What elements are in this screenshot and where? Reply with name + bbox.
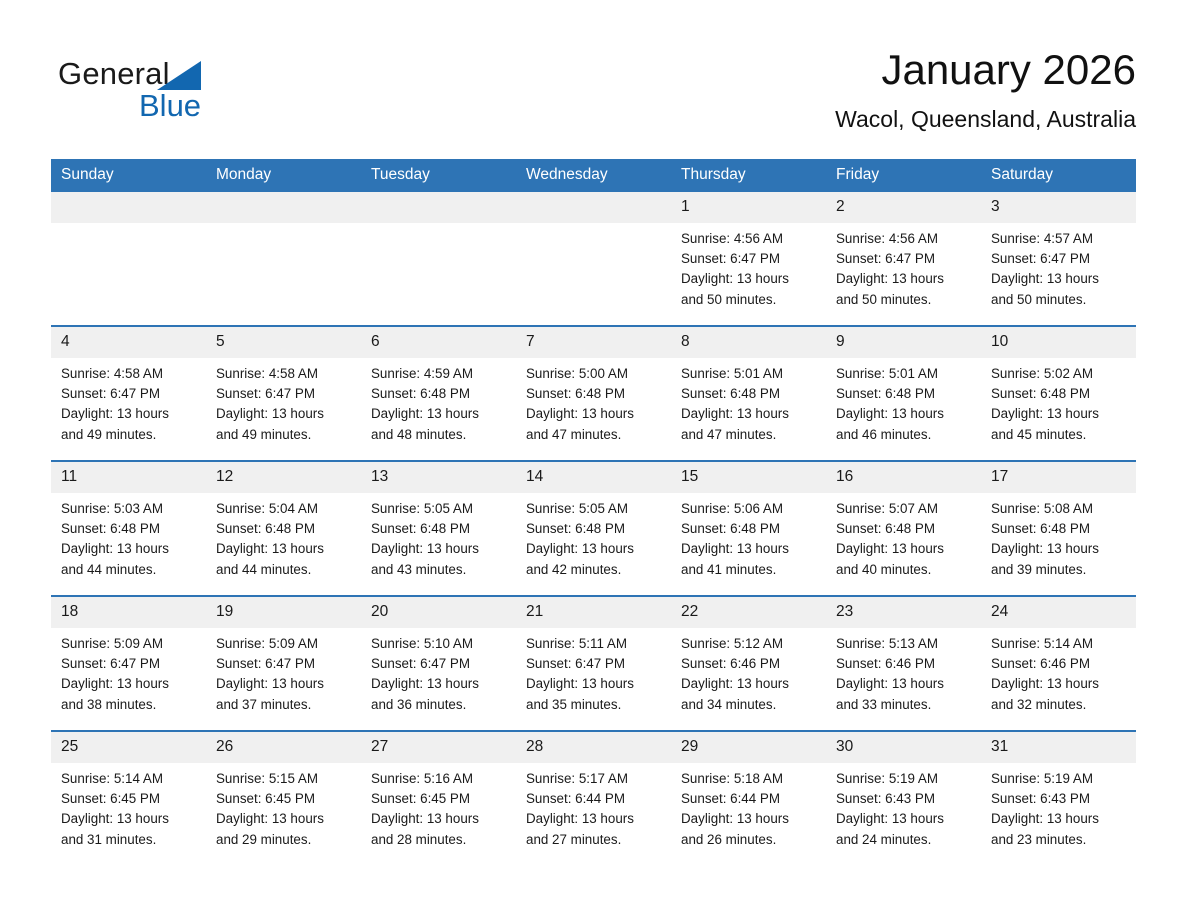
daylight-text-line2: and 44 minutes. (61, 560, 198, 580)
daylight-text-line1: Daylight: 13 hours (681, 539, 818, 559)
daylight-text-line2: and 34 minutes. (681, 695, 818, 715)
daylight-text-line1: Daylight: 13 hours (991, 674, 1128, 694)
brand-triangle-icon (157, 61, 201, 90)
sunrise-text: Sunrise: 4:59 AM (371, 364, 508, 384)
calendar-day-cell[interactable]: 30Sunrise: 5:19 AMSunset: 6:43 PMDayligh… (826, 731, 981, 865)
day-number: 24 (981, 597, 1136, 628)
calendar-day-cell[interactable]: 1Sunrise: 4:56 AMSunset: 6:47 PMDaylight… (671, 192, 826, 326)
day-details: Sunrise: 5:17 AMSunset: 6:44 PMDaylight:… (516, 763, 671, 850)
calendar-day-cell[interactable]: 17Sunrise: 5:08 AMSunset: 6:48 PMDayligh… (981, 461, 1136, 596)
daylight-text-line2: and 50 minutes. (681, 290, 818, 310)
sunset-text: Sunset: 6:48 PM (681, 519, 818, 539)
sunrise-text: Sunrise: 5:04 AM (216, 499, 353, 519)
day-number: 29 (671, 732, 826, 763)
daylight-text-line2: and 35 minutes. (526, 695, 663, 715)
sunrise-text: Sunrise: 5:16 AM (371, 769, 508, 789)
weekday-header-saturday: Saturday (981, 159, 1136, 192)
calendar-day-cell[interactable]: 31Sunrise: 5:19 AMSunset: 6:43 PMDayligh… (981, 731, 1136, 865)
daylight-text-line1: Daylight: 13 hours (836, 269, 973, 289)
sunset-text: Sunset: 6:45 PM (216, 789, 353, 809)
calendar-day-cell[interactable]: 11Sunrise: 5:03 AMSunset: 6:48 PMDayligh… (51, 461, 206, 596)
daylight-text-line1: Daylight: 13 hours (371, 809, 508, 829)
sunrise-text: Sunrise: 4:57 AM (991, 229, 1128, 249)
sunset-text: Sunset: 6:46 PM (991, 654, 1128, 674)
day-number: 25 (51, 732, 206, 763)
sunset-text: Sunset: 6:48 PM (836, 384, 973, 404)
day-number (206, 192, 361, 223)
page-title: January 2026 (835, 44, 1136, 96)
daylight-text-line1: Daylight: 13 hours (836, 674, 973, 694)
sunset-text: Sunset: 6:45 PM (371, 789, 508, 809)
daylight-text-line1: Daylight: 13 hours (681, 404, 818, 424)
sunrise-text: Sunrise: 5:08 AM (991, 499, 1128, 519)
calendar-week-row: 18Sunrise: 5:09 AMSunset: 6:47 PMDayligh… (51, 596, 1136, 731)
sunset-text: Sunset: 6:48 PM (61, 519, 198, 539)
calendar-header-row: Sunday Monday Tuesday Wednesday Thursday… (51, 159, 1136, 192)
day-details: Sunrise: 5:00 AMSunset: 6:48 PMDaylight:… (516, 358, 671, 445)
calendar-day-cell[interactable]: 4Sunrise: 4:58 AMSunset: 6:47 PMDaylight… (51, 326, 206, 461)
daylight-text-line2: and 23 minutes. (991, 830, 1128, 850)
weekday-header-monday: Monday (206, 159, 361, 192)
day-number: 9 (826, 327, 981, 358)
day-details: Sunrise: 5:01 AMSunset: 6:48 PMDaylight:… (671, 358, 826, 445)
sunset-text: Sunset: 6:46 PM (836, 654, 973, 674)
calendar-week-row: 25Sunrise: 5:14 AMSunset: 6:45 PMDayligh… (51, 731, 1136, 865)
daylight-text-line1: Daylight: 13 hours (216, 674, 353, 694)
daylight-text-line2: and 45 minutes. (991, 425, 1128, 445)
sunset-text: Sunset: 6:47 PM (216, 384, 353, 404)
calendar-day-cell[interactable]: 14Sunrise: 5:05 AMSunset: 6:48 PMDayligh… (516, 461, 671, 596)
brand-name-blue: Blue (139, 88, 201, 124)
day-number: 2 (826, 192, 981, 223)
sunrise-text: Sunrise: 5:00 AM (526, 364, 663, 384)
day-details: Sunrise: 5:02 AMSunset: 6:48 PMDaylight:… (981, 358, 1136, 445)
sunset-text: Sunset: 6:48 PM (991, 384, 1128, 404)
day-details: Sunrise: 5:12 AMSunset: 6:46 PMDaylight:… (671, 628, 826, 715)
day-details: Sunrise: 5:19 AMSunset: 6:43 PMDaylight:… (981, 763, 1136, 850)
daylight-text-line2: and 24 minutes. (836, 830, 973, 850)
day-details: Sunrise: 5:14 AMSunset: 6:46 PMDaylight:… (981, 628, 1136, 715)
day-number: 1 (671, 192, 826, 223)
sunrise-text: Sunrise: 5:05 AM (371, 499, 508, 519)
sunset-text: Sunset: 6:48 PM (371, 519, 508, 539)
sunrise-text: Sunrise: 5:09 AM (61, 634, 198, 654)
sunset-text: Sunset: 6:47 PM (526, 654, 663, 674)
day-number: 30 (826, 732, 981, 763)
daylight-text-line2: and 37 minutes. (216, 695, 353, 715)
day-details: Sunrise: 5:19 AMSunset: 6:43 PMDaylight:… (826, 763, 981, 850)
day-number (51, 192, 206, 223)
daylight-text-line2: and 44 minutes. (216, 560, 353, 580)
day-details: Sunrise: 5:18 AMSunset: 6:44 PMDaylight:… (671, 763, 826, 850)
daylight-text-line2: and 28 minutes. (371, 830, 508, 850)
day-number: 31 (981, 732, 1136, 763)
daylight-text-line2: and 32 minutes. (991, 695, 1128, 715)
day-number: 10 (981, 327, 1136, 358)
day-details: Sunrise: 5:07 AMSunset: 6:48 PMDaylight:… (826, 493, 981, 580)
calendar-day-cell[interactable]: 6Sunrise: 4:59 AMSunset: 6:48 PMDaylight… (361, 326, 516, 461)
sunset-text: Sunset: 6:48 PM (836, 519, 973, 539)
sunset-text: Sunset: 6:43 PM (836, 789, 973, 809)
day-number (516, 192, 671, 223)
day-details: Sunrise: 5:10 AMSunset: 6:47 PMDaylight:… (361, 628, 516, 715)
daylight-text-line1: Daylight: 13 hours (526, 809, 663, 829)
daylight-text-line2: and 26 minutes. (681, 830, 818, 850)
daylight-text-line2: and 48 minutes. (371, 425, 508, 445)
day-details: Sunrise: 5:04 AMSunset: 6:48 PMDaylight:… (206, 493, 361, 580)
calendar-day-cell[interactable]: 21Sunrise: 5:11 AMSunset: 6:47 PMDayligh… (516, 596, 671, 731)
daylight-text-line1: Daylight: 13 hours (526, 674, 663, 694)
sunrise-text: Sunrise: 5:19 AM (991, 769, 1128, 789)
weekday-header-friday: Friday (826, 159, 981, 192)
day-number: 6 (361, 327, 516, 358)
sunset-text: Sunset: 6:47 PM (61, 654, 198, 674)
daylight-text-line1: Daylight: 13 hours (681, 269, 818, 289)
sunset-text: Sunset: 6:48 PM (526, 384, 663, 404)
sunrise-text: Sunrise: 5:14 AM (991, 634, 1128, 654)
daylight-text-line1: Daylight: 13 hours (991, 539, 1128, 559)
calendar-day-cell[interactable]: 20Sunrise: 5:10 AMSunset: 6:47 PMDayligh… (361, 596, 516, 731)
day-details: Sunrise: 5:05 AMSunset: 6:48 PMDaylight:… (516, 493, 671, 580)
daylight-text-line2: and 41 minutes. (681, 560, 818, 580)
calendar-day-cell[interactable]: 8Sunrise: 5:01 AMSunset: 6:48 PMDaylight… (671, 326, 826, 461)
day-details: Sunrise: 5:08 AMSunset: 6:48 PMDaylight:… (981, 493, 1136, 580)
day-number: 14 (516, 462, 671, 493)
sunset-text: Sunset: 6:48 PM (526, 519, 663, 539)
sunrise-text: Sunrise: 5:19 AM (836, 769, 973, 789)
day-number: 21 (516, 597, 671, 628)
day-details: Sunrise: 5:15 AMSunset: 6:45 PMDaylight:… (206, 763, 361, 850)
sunrise-text: Sunrise: 5:15 AM (216, 769, 353, 789)
daylight-text-line2: and 50 minutes. (991, 290, 1128, 310)
sunset-text: Sunset: 6:47 PM (61, 384, 198, 404)
daylight-text-line1: Daylight: 13 hours (371, 674, 508, 694)
daylight-text-line2: and 50 minutes. (836, 290, 973, 310)
daylight-text-line2: and 36 minutes. (371, 695, 508, 715)
calendar-day-cell[interactable]: 15Sunrise: 5:06 AMSunset: 6:48 PMDayligh… (671, 461, 826, 596)
calendar-day-cell[interactable]: 18Sunrise: 5:09 AMSunset: 6:47 PMDayligh… (51, 596, 206, 731)
sunset-text: Sunset: 6:47 PM (216, 654, 353, 674)
day-number: 13 (361, 462, 516, 493)
calendar-day-cell[interactable]: 13Sunrise: 5:05 AMSunset: 6:48 PMDayligh… (361, 461, 516, 596)
daylight-text-line1: Daylight: 13 hours (836, 539, 973, 559)
day-details: Sunrise: 4:58 AMSunset: 6:47 PMDaylight:… (51, 358, 206, 445)
daylight-text-line2: and 49 minutes. (216, 425, 353, 445)
page-header: General Blue January 2026 Wacol, Queensl… (51, 44, 1136, 148)
calendar-day-cell[interactable]: 7Sunrise: 5:00 AMSunset: 6:48 PMDaylight… (516, 326, 671, 461)
daylight-text-line2: and 47 minutes. (526, 425, 663, 445)
calendar-day-cell[interactable]: 26Sunrise: 5:15 AMSunset: 6:45 PMDayligh… (206, 731, 361, 865)
day-details: Sunrise: 4:56 AMSunset: 6:47 PMDaylight:… (671, 223, 826, 310)
day-details: Sunrise: 5:13 AMSunset: 6:46 PMDaylight:… (826, 628, 981, 715)
daylight-text-line1: Daylight: 13 hours (991, 269, 1128, 289)
daylight-text-line1: Daylight: 13 hours (61, 404, 198, 424)
daylight-text-line1: Daylight: 13 hours (526, 404, 663, 424)
day-number: 28 (516, 732, 671, 763)
sunset-text: Sunset: 6:47 PM (371, 654, 508, 674)
sunrise-text: Sunrise: 4:58 AM (61, 364, 198, 384)
day-number: 12 (206, 462, 361, 493)
daylight-text-line2: and 46 minutes. (836, 425, 973, 445)
day-details: Sunrise: 4:56 AMSunset: 6:47 PMDaylight:… (826, 223, 981, 310)
daylight-text-line1: Daylight: 13 hours (371, 404, 508, 424)
daylight-text-line2: and 29 minutes. (216, 830, 353, 850)
calendar-day-cell[interactable]: 5Sunrise: 4:58 AMSunset: 6:47 PMDaylight… (206, 326, 361, 461)
daylight-text-line2: and 40 minutes. (836, 560, 973, 580)
calendar-page: General Blue January 2026 Wacol, Queensl… (0, 0, 1188, 918)
calendar-day-cell[interactable]: 12Sunrise: 5:04 AMSunset: 6:48 PMDayligh… (206, 461, 361, 596)
calendar-day-cell[interactable]: 19Sunrise: 5:09 AMSunset: 6:47 PMDayligh… (206, 596, 361, 731)
calendar-table: Sunday Monday Tuesday Wednesday Thursday… (51, 159, 1136, 865)
daylight-text-line1: Daylight: 13 hours (991, 809, 1128, 829)
calendar-body: 1Sunrise: 4:56 AMSunset: 6:47 PMDaylight… (51, 192, 1136, 865)
sunset-text: Sunset: 6:44 PM (681, 789, 818, 809)
daylight-text-line2: and 47 minutes. (681, 425, 818, 445)
calendar-day-cell[interactable]: 9Sunrise: 5:01 AMSunset: 6:48 PMDaylight… (826, 326, 981, 461)
daylight-text-line1: Daylight: 13 hours (216, 404, 353, 424)
day-number: 26 (206, 732, 361, 763)
calendar-day-cell[interactable]: 2Sunrise: 4:56 AMSunset: 6:47 PMDaylight… (826, 192, 981, 326)
sunrise-text: Sunrise: 5:07 AM (836, 499, 973, 519)
calendar-week-row: 1Sunrise: 4:56 AMSunset: 6:47 PMDaylight… (51, 192, 1136, 326)
day-number: 5 (206, 327, 361, 358)
daylight-text-line1: Daylight: 13 hours (526, 539, 663, 559)
day-details: Sunrise: 5:03 AMSunset: 6:48 PMDaylight:… (51, 493, 206, 580)
daylight-text-line1: Daylight: 13 hours (836, 404, 973, 424)
calendar-day-cell[interactable]: 23Sunrise: 5:13 AMSunset: 6:46 PMDayligh… (826, 596, 981, 731)
day-details: Sunrise: 4:57 AMSunset: 6:47 PMDaylight:… (981, 223, 1136, 310)
day-details: Sunrise: 5:09 AMSunset: 6:47 PMDaylight:… (206, 628, 361, 715)
calendar-day-cell[interactable]: 10Sunrise: 5:02 AMSunset: 6:48 PMDayligh… (981, 326, 1136, 461)
daylight-text-line1: Daylight: 13 hours (216, 539, 353, 559)
day-details: Sunrise: 5:09 AMSunset: 6:47 PMDaylight:… (51, 628, 206, 715)
calendar-day-cell[interactable]: 29Sunrise: 5:18 AMSunset: 6:44 PMDayligh… (671, 731, 826, 865)
sunrise-text: Sunrise: 5:01 AM (836, 364, 973, 384)
day-details: Sunrise: 4:59 AMSunset: 6:48 PMDaylight:… (361, 358, 516, 445)
day-number: 27 (361, 732, 516, 763)
title-block: January 2026 Wacol, Queensland, Australi… (835, 44, 1136, 136)
weekday-header-sunday: Sunday (51, 159, 206, 192)
day-number: 23 (826, 597, 981, 628)
daylight-text-line1: Daylight: 13 hours (61, 809, 198, 829)
sunrise-text: Sunrise: 5:09 AM (216, 634, 353, 654)
weekday-header-thursday: Thursday (671, 159, 826, 192)
day-number: 19 (206, 597, 361, 628)
day-details: Sunrise: 4:58 AMSunset: 6:47 PMDaylight:… (206, 358, 361, 445)
daylight-text-line1: Daylight: 13 hours (371, 539, 508, 559)
day-number: 8 (671, 327, 826, 358)
sunrise-text: Sunrise: 5:18 AM (681, 769, 818, 789)
sunrise-text: Sunrise: 4:56 AM (836, 229, 973, 249)
sunrise-text: Sunrise: 5:02 AM (991, 364, 1128, 384)
daylight-text-line2: and 33 minutes. (836, 695, 973, 715)
daylight-text-line1: Daylight: 13 hours (681, 809, 818, 829)
sunrise-text: Sunrise: 5:06 AM (681, 499, 818, 519)
sunset-text: Sunset: 6:48 PM (371, 384, 508, 404)
day-details: Sunrise: 5:16 AMSunset: 6:45 PMDaylight:… (361, 763, 516, 850)
calendar-week-row: 4Sunrise: 4:58 AMSunset: 6:47 PMDaylight… (51, 326, 1136, 461)
sunrise-text: Sunrise: 4:56 AM (681, 229, 818, 249)
sunrise-text: Sunrise: 5:13 AM (836, 634, 973, 654)
calendar-day-cell-empty (516, 192, 671, 326)
day-details: Sunrise: 5:05 AMSunset: 6:48 PMDaylight:… (361, 493, 516, 580)
calendar-day-cell[interactable]: 24Sunrise: 5:14 AMSunset: 6:46 PMDayligh… (981, 596, 1136, 731)
calendar-week-row: 11Sunrise: 5:03 AMSunset: 6:48 PMDayligh… (51, 461, 1136, 596)
calendar-day-cell-empty (361, 192, 516, 326)
calendar-day-cell[interactable]: 3Sunrise: 4:57 AMSunset: 6:47 PMDaylight… (981, 192, 1136, 326)
brand-logo[interactable]: General Blue (58, 56, 358, 136)
calendar-day-cell-empty (51, 192, 206, 326)
sunrise-text: Sunrise: 5:10 AM (371, 634, 508, 654)
sunset-text: Sunset: 6:47 PM (681, 249, 818, 269)
day-number: 17 (981, 462, 1136, 493)
weekday-header-tuesday: Tuesday (361, 159, 516, 192)
daylight-text-line1: Daylight: 13 hours (61, 539, 198, 559)
brand-name-general: General (58, 56, 170, 92)
sunset-text: Sunset: 6:47 PM (991, 249, 1128, 269)
sunrise-text: Sunrise: 5:12 AM (681, 634, 818, 654)
daylight-text-line2: and 43 minutes. (371, 560, 508, 580)
day-number (361, 192, 516, 223)
sunrise-text: Sunrise: 5:05 AM (526, 499, 663, 519)
page-subtitle: Wacol, Queensland, Australia (835, 102, 1136, 136)
daylight-text-line2: and 49 minutes. (61, 425, 198, 445)
day-details: Sunrise: 5:06 AMSunset: 6:48 PMDaylight:… (671, 493, 826, 580)
sunrise-text: Sunrise: 5:14 AM (61, 769, 198, 789)
calendar-day-cell-empty (206, 192, 361, 326)
sunset-text: Sunset: 6:47 PM (836, 249, 973, 269)
weekday-header-wednesday: Wednesday (516, 159, 671, 192)
sunset-text: Sunset: 6:44 PM (526, 789, 663, 809)
daylight-text-line1: Daylight: 13 hours (216, 809, 353, 829)
day-number: 22 (671, 597, 826, 628)
sunrise-text: Sunrise: 5:11 AM (526, 634, 663, 654)
sunrise-text: Sunrise: 5:03 AM (61, 499, 198, 519)
day-details: Sunrise: 5:11 AMSunset: 6:47 PMDaylight:… (516, 628, 671, 715)
daylight-text-line1: Daylight: 13 hours (991, 404, 1128, 424)
sunset-text: Sunset: 6:48 PM (216, 519, 353, 539)
daylight-text-line2: and 31 minutes. (61, 830, 198, 850)
sunset-text: Sunset: 6:45 PM (61, 789, 198, 809)
daylight-text-line2: and 38 minutes. (61, 695, 198, 715)
day-number: 3 (981, 192, 1136, 223)
daylight-text-line1: Daylight: 13 hours (836, 809, 973, 829)
daylight-text-line2: and 27 minutes. (526, 830, 663, 850)
day-number: 15 (671, 462, 826, 493)
daylight-text-line2: and 39 minutes. (991, 560, 1128, 580)
daylight-text-line2: and 42 minutes. (526, 560, 663, 580)
calendar-day-cell[interactable]: 27Sunrise: 5:16 AMSunset: 6:45 PMDayligh… (361, 731, 516, 865)
sunrise-text: Sunrise: 5:17 AM (526, 769, 663, 789)
sunset-text: Sunset: 6:48 PM (681, 384, 818, 404)
daylight-text-line1: Daylight: 13 hours (681, 674, 818, 694)
day-details: Sunrise: 5:14 AMSunset: 6:45 PMDaylight:… (51, 763, 206, 850)
calendar-day-cell[interactable]: 16Sunrise: 5:07 AMSunset: 6:48 PMDayligh… (826, 461, 981, 596)
day-number: 11 (51, 462, 206, 493)
sunset-text: Sunset: 6:48 PM (991, 519, 1128, 539)
day-number: 18 (51, 597, 206, 628)
calendar-day-cell[interactable]: 25Sunrise: 5:14 AMSunset: 6:45 PMDayligh… (51, 731, 206, 865)
day-details: Sunrise: 5:01 AMSunset: 6:48 PMDaylight:… (826, 358, 981, 445)
daylight-text-line1: Daylight: 13 hours (61, 674, 198, 694)
day-number: 16 (826, 462, 981, 493)
sunset-text: Sunset: 6:43 PM (991, 789, 1128, 809)
calendar-day-cell[interactable]: 22Sunrise: 5:12 AMSunset: 6:46 PMDayligh… (671, 596, 826, 731)
day-number: 20 (361, 597, 516, 628)
calendar-day-cell[interactable]: 28Sunrise: 5:17 AMSunset: 6:44 PMDayligh… (516, 731, 671, 865)
day-number: 7 (516, 327, 671, 358)
sunrise-text: Sunrise: 5:01 AM (681, 364, 818, 384)
day-number: 4 (51, 327, 206, 358)
sunrise-text: Sunrise: 4:58 AM (216, 364, 353, 384)
sunset-text: Sunset: 6:46 PM (681, 654, 818, 674)
